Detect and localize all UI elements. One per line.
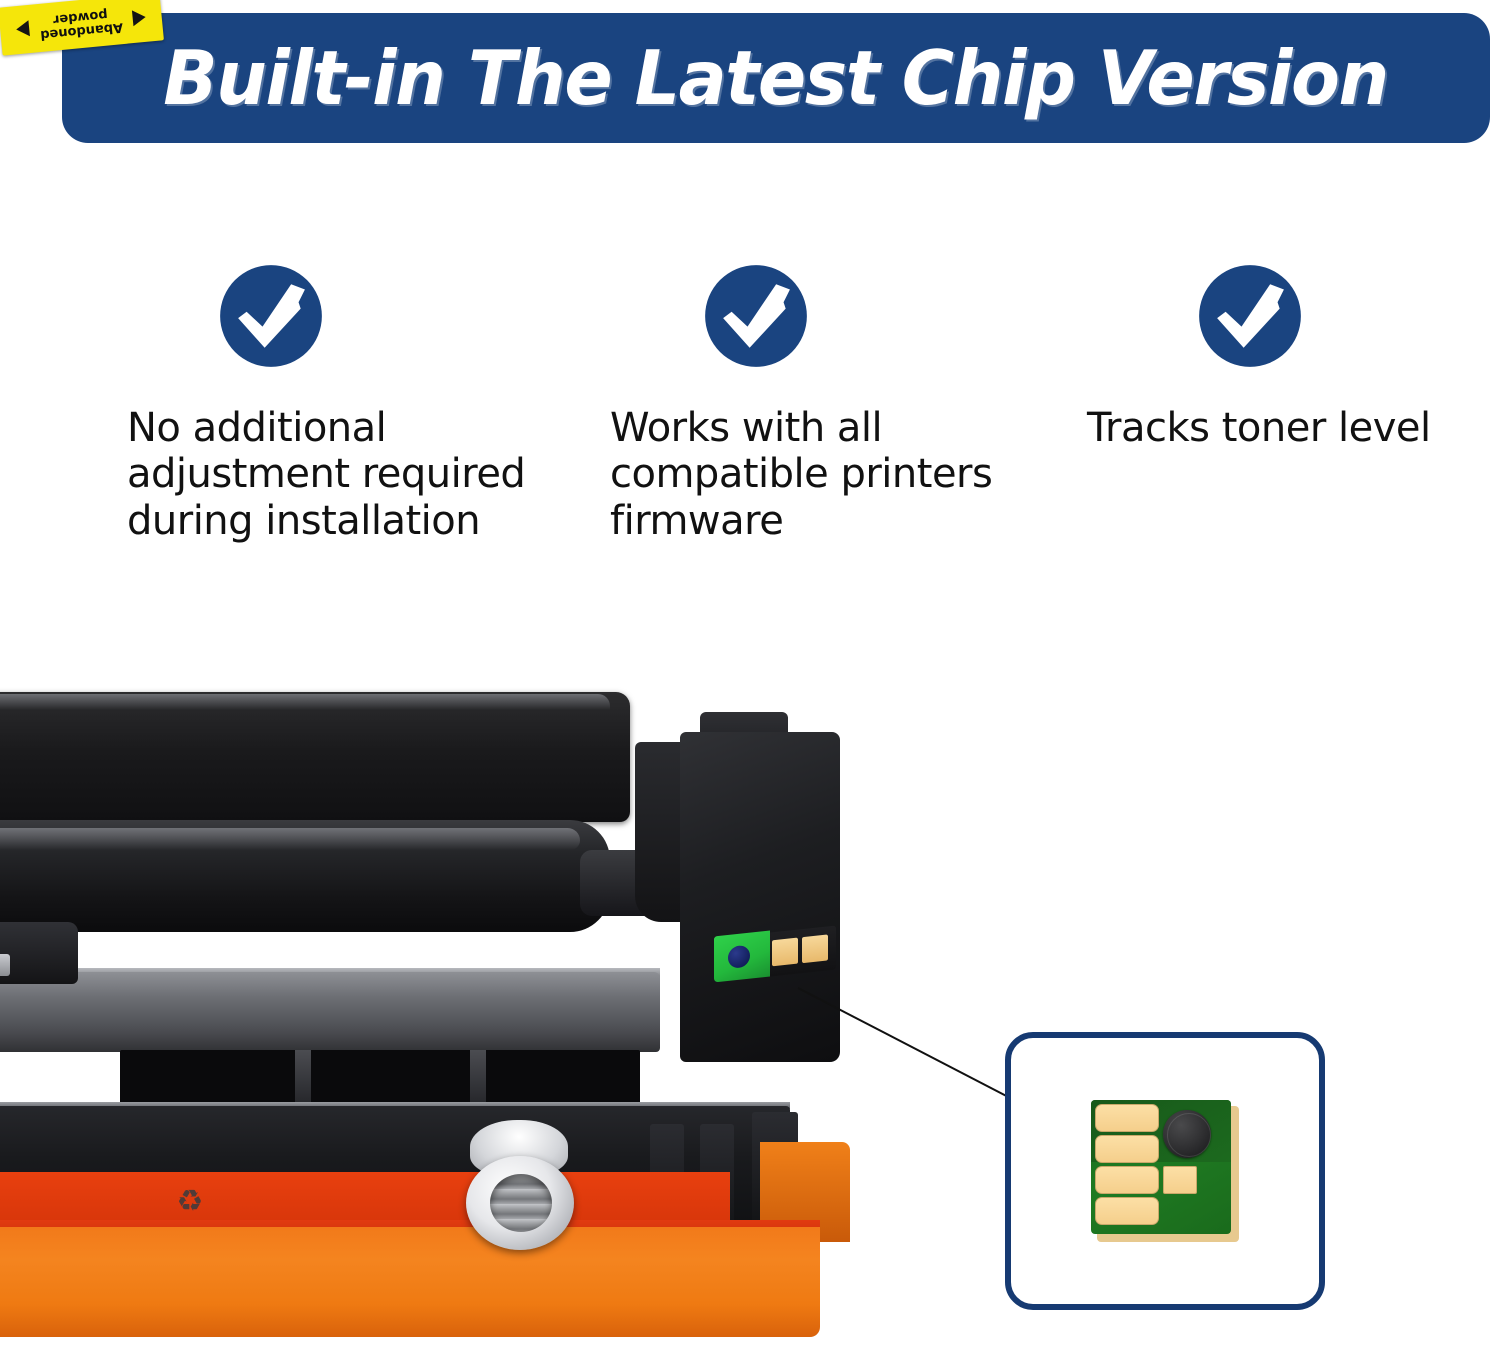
check-circle-icon xyxy=(218,263,324,369)
cartridge-left-tab xyxy=(0,922,78,984)
chip-contact-pad xyxy=(802,934,828,963)
arrow-right-icon xyxy=(16,21,30,38)
cartridge-end-block xyxy=(680,732,840,1062)
abandoned-powder-label-text: Abandoned powder xyxy=(34,6,128,42)
cartridge-vent-divider xyxy=(295,1050,311,1108)
cartridge-vent-divider xyxy=(470,1050,486,1108)
cartridge-vent-slots xyxy=(120,1050,640,1108)
toner-cartridge-photo xyxy=(0,672,900,1352)
chip-contact-pad xyxy=(772,938,798,967)
page-title: Built-in The Latest Chip Version xyxy=(164,41,1389,116)
chip-zoom-contact-pad xyxy=(1095,1197,1159,1225)
abandoned-powder-label-inner: Abandoned powder xyxy=(15,4,147,44)
chip-detail-callout xyxy=(1005,1032,1325,1310)
feature-label: No additional adjustment required during… xyxy=(125,405,527,544)
cartridge-left-clip xyxy=(0,954,10,976)
header-banner: Built-in The Latest Chip Version xyxy=(62,13,1490,143)
recycle-emboss-icon: ♻ xyxy=(168,1180,212,1224)
chip-zoom-small-pad xyxy=(1163,1166,1197,1194)
chip-zoom-contact-pad xyxy=(1095,1135,1159,1163)
cartridge-fill-port-thread xyxy=(490,1174,552,1232)
infographic-page: Built-in The Latest Chip Version No addi… xyxy=(0,0,1500,1352)
feature-icon-wrap xyxy=(75,255,545,405)
check-circle-icon xyxy=(703,263,809,369)
feature-label: Tracks toner level xyxy=(1085,405,1500,451)
cartridge-top-body xyxy=(0,692,630,822)
feature-label: Works with all compatible printers firmw… xyxy=(608,405,1030,544)
cartridge-shelf xyxy=(0,972,660,1052)
feature-item-tracks-toner-level: Tracks toner level xyxy=(1045,255,1500,451)
check-circle-icon xyxy=(1197,263,1303,369)
cartridge-top-highlight xyxy=(0,694,610,710)
cartridge-drum-highlight xyxy=(0,828,580,850)
feature-list: No additional adjustment required during… xyxy=(0,255,1500,655)
chip-zoom-contact-pad xyxy=(1095,1104,1159,1132)
chip-zoom-ic-ring xyxy=(1167,1113,1211,1157)
arrow-left-icon xyxy=(132,10,146,27)
feature-item-no-additional-adjustment: No additional adjustment required during… xyxy=(75,255,545,544)
cartridge-orange-tray xyxy=(0,1227,820,1337)
chip-zoom-contact-pad xyxy=(1095,1166,1159,1194)
feature-icon-wrap xyxy=(560,255,1030,405)
chip-zoom-artwork xyxy=(1091,1100,1239,1242)
feature-item-works-with-all-firmware: Works with all compatible printers firmw… xyxy=(560,255,1030,544)
feature-icon-wrap xyxy=(1045,255,1500,405)
